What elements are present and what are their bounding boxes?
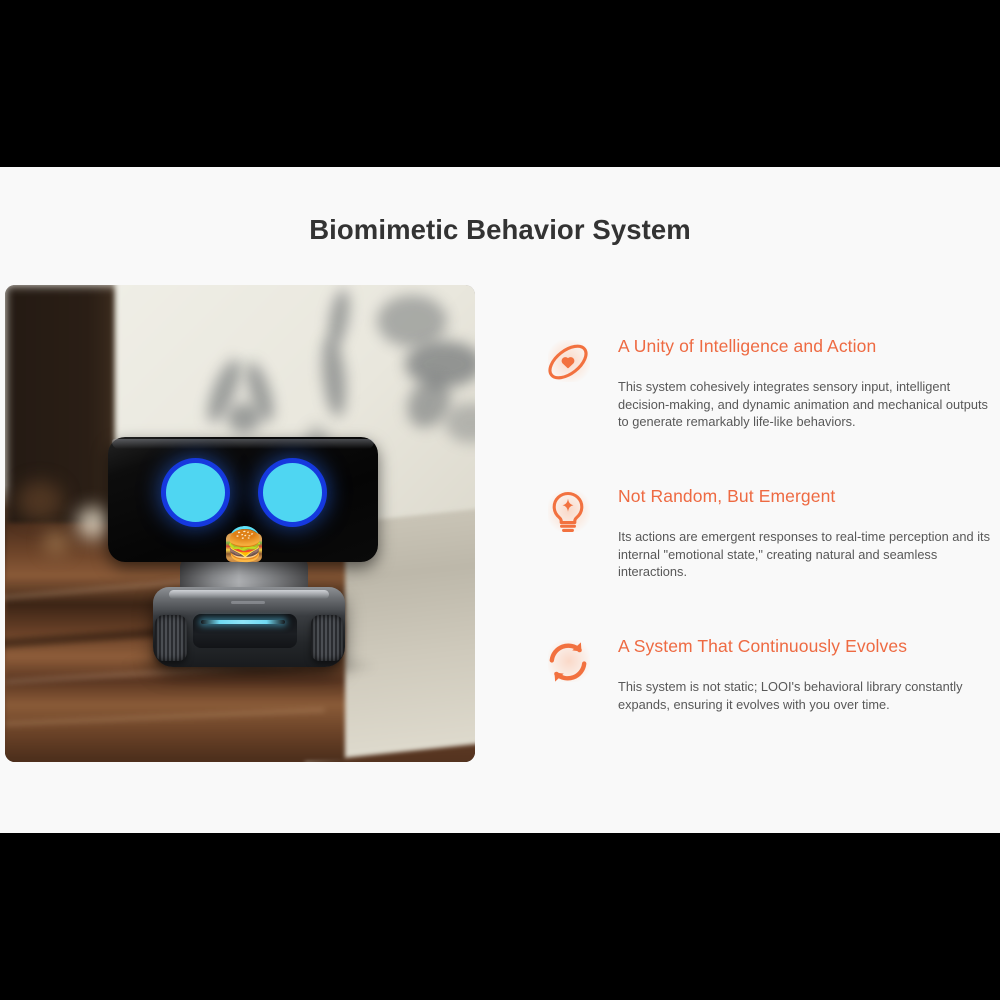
robot-wheel-right xyxy=(311,615,343,661)
feature-item-emergent: Not Random, But Emergent Its actions are… xyxy=(538,484,1000,602)
robot-eye-left xyxy=(166,463,225,522)
robot-face-screen: 🍔 xyxy=(108,437,378,562)
feature-description: This system is not static; LOOI's behavi… xyxy=(618,678,1000,713)
feature-description: Its actions are emergent responses to re… xyxy=(618,528,1000,581)
feature-list: A Unity of Intelligence and Action This … xyxy=(538,325,1000,752)
feature-title: Not Random, But Emergent xyxy=(618,484,1000,508)
feature-description: This system cohesively integrates sensor… xyxy=(618,378,1000,431)
screen-glare xyxy=(112,439,374,449)
base-top-highlight xyxy=(169,590,329,599)
base-brand-mark xyxy=(231,601,265,604)
robot-product-photo: 🍔 xyxy=(5,285,475,762)
screenshot-viewport: Biomimetic Behavior System xyxy=(0,0,1000,1000)
letterbox-bar-top xyxy=(0,0,1000,167)
robot-wheel-left xyxy=(155,615,187,661)
feature-title: A Unity of Intelligence and Action xyxy=(618,334,1000,358)
burger-emoji: 🍔 xyxy=(226,531,262,562)
lightbulb-sparkle-icon xyxy=(540,484,596,540)
feature-title: A System That Continuously Evolves xyxy=(618,634,1000,658)
feature-item-evolves: A System That Continuously Evolves This … xyxy=(538,634,1000,752)
heart-orbit-icon xyxy=(540,334,596,390)
page-title: Biomimetic Behavior System xyxy=(0,214,1000,246)
refresh-cycle-icon xyxy=(540,634,596,690)
robot-eye-right xyxy=(263,463,322,522)
slide-content-area: Biomimetic Behavior System xyxy=(0,167,1000,833)
letterbox-bar-bottom xyxy=(0,833,1000,1000)
status-led-strip xyxy=(201,620,285,624)
feature-item-unity: A Unity of Intelligence and Action This … xyxy=(538,334,1000,452)
robot-base-chassis xyxy=(153,587,345,667)
looi-robot: 🍔 xyxy=(5,285,475,762)
